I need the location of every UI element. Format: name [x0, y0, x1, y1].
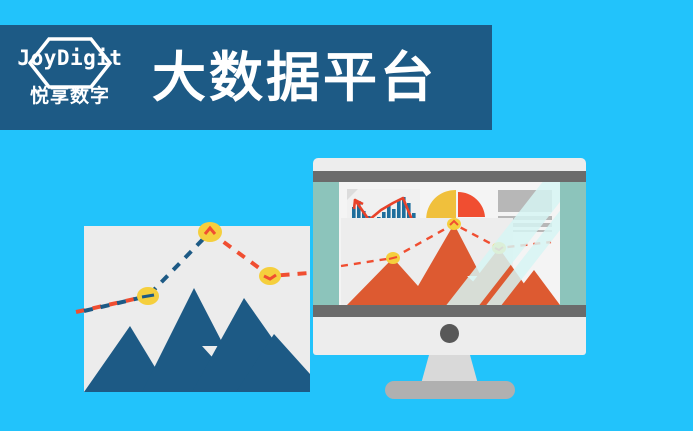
- data-marker: [492, 242, 506, 254]
- logo-wordmark: JoyDigit: [17, 46, 122, 70]
- left-chart-panel: [84, 226, 310, 392]
- desktop-monitor: [313, 158, 586, 355]
- mountain-range-blue-chart: [84, 226, 310, 392]
- monitor-stand-base: [385, 381, 515, 399]
- page-title: 大数据平台: [152, 51, 437, 105]
- banner-canvas: JoyDigit 悦享数字 大数据平台: [0, 0, 693, 431]
- monitor-top-bar: [313, 171, 586, 182]
- screen-side-band-right: [560, 182, 586, 305]
- mountain-range-orange-chart[interactable]: [339, 218, 560, 305]
- logo-subtitle: 悦享数字: [30, 81, 110, 108]
- monitor-stand-neck: [421, 355, 478, 384]
- screen-side-band-left: [313, 182, 339, 305]
- dashboard-content: [339, 182, 560, 305]
- monitor-screen: [313, 182, 586, 305]
- power-indicator-dot: [440, 324, 459, 343]
- brand-logo: JoyDigit 悦享数字: [14, 35, 126, 121]
- monitor-bottom-bar: [313, 305, 586, 317]
- header-band: JoyDigit 悦享数字 大数据平台: [0, 25, 492, 130]
